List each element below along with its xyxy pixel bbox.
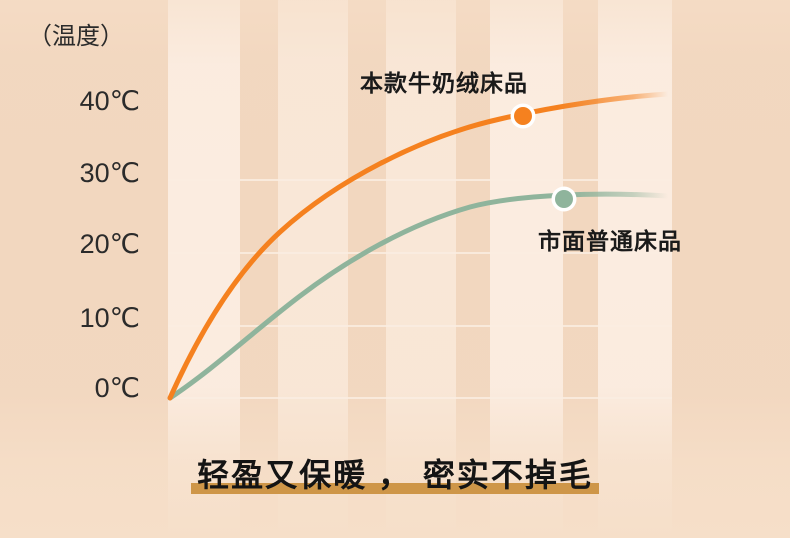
- caption-text: 轻盈又保暖 ， 密实不掉毛: [197, 457, 593, 493]
- gridlines: [168, 180, 672, 398]
- series-label-ordinary: 市面普通床品: [538, 222, 682, 256]
- marker-premium: [511, 104, 536, 129]
- marker-ordinary: [552, 187, 577, 212]
- caption: 轻盈又保暖 ， 密实不掉毛: [0, 450, 790, 496]
- temperature-comparison-chart: （温度） 40℃ 30℃ 20℃ 10℃ 0℃: [0, 0, 790, 538]
- series-label-premium: 本款牛奶绒床品: [360, 64, 528, 98]
